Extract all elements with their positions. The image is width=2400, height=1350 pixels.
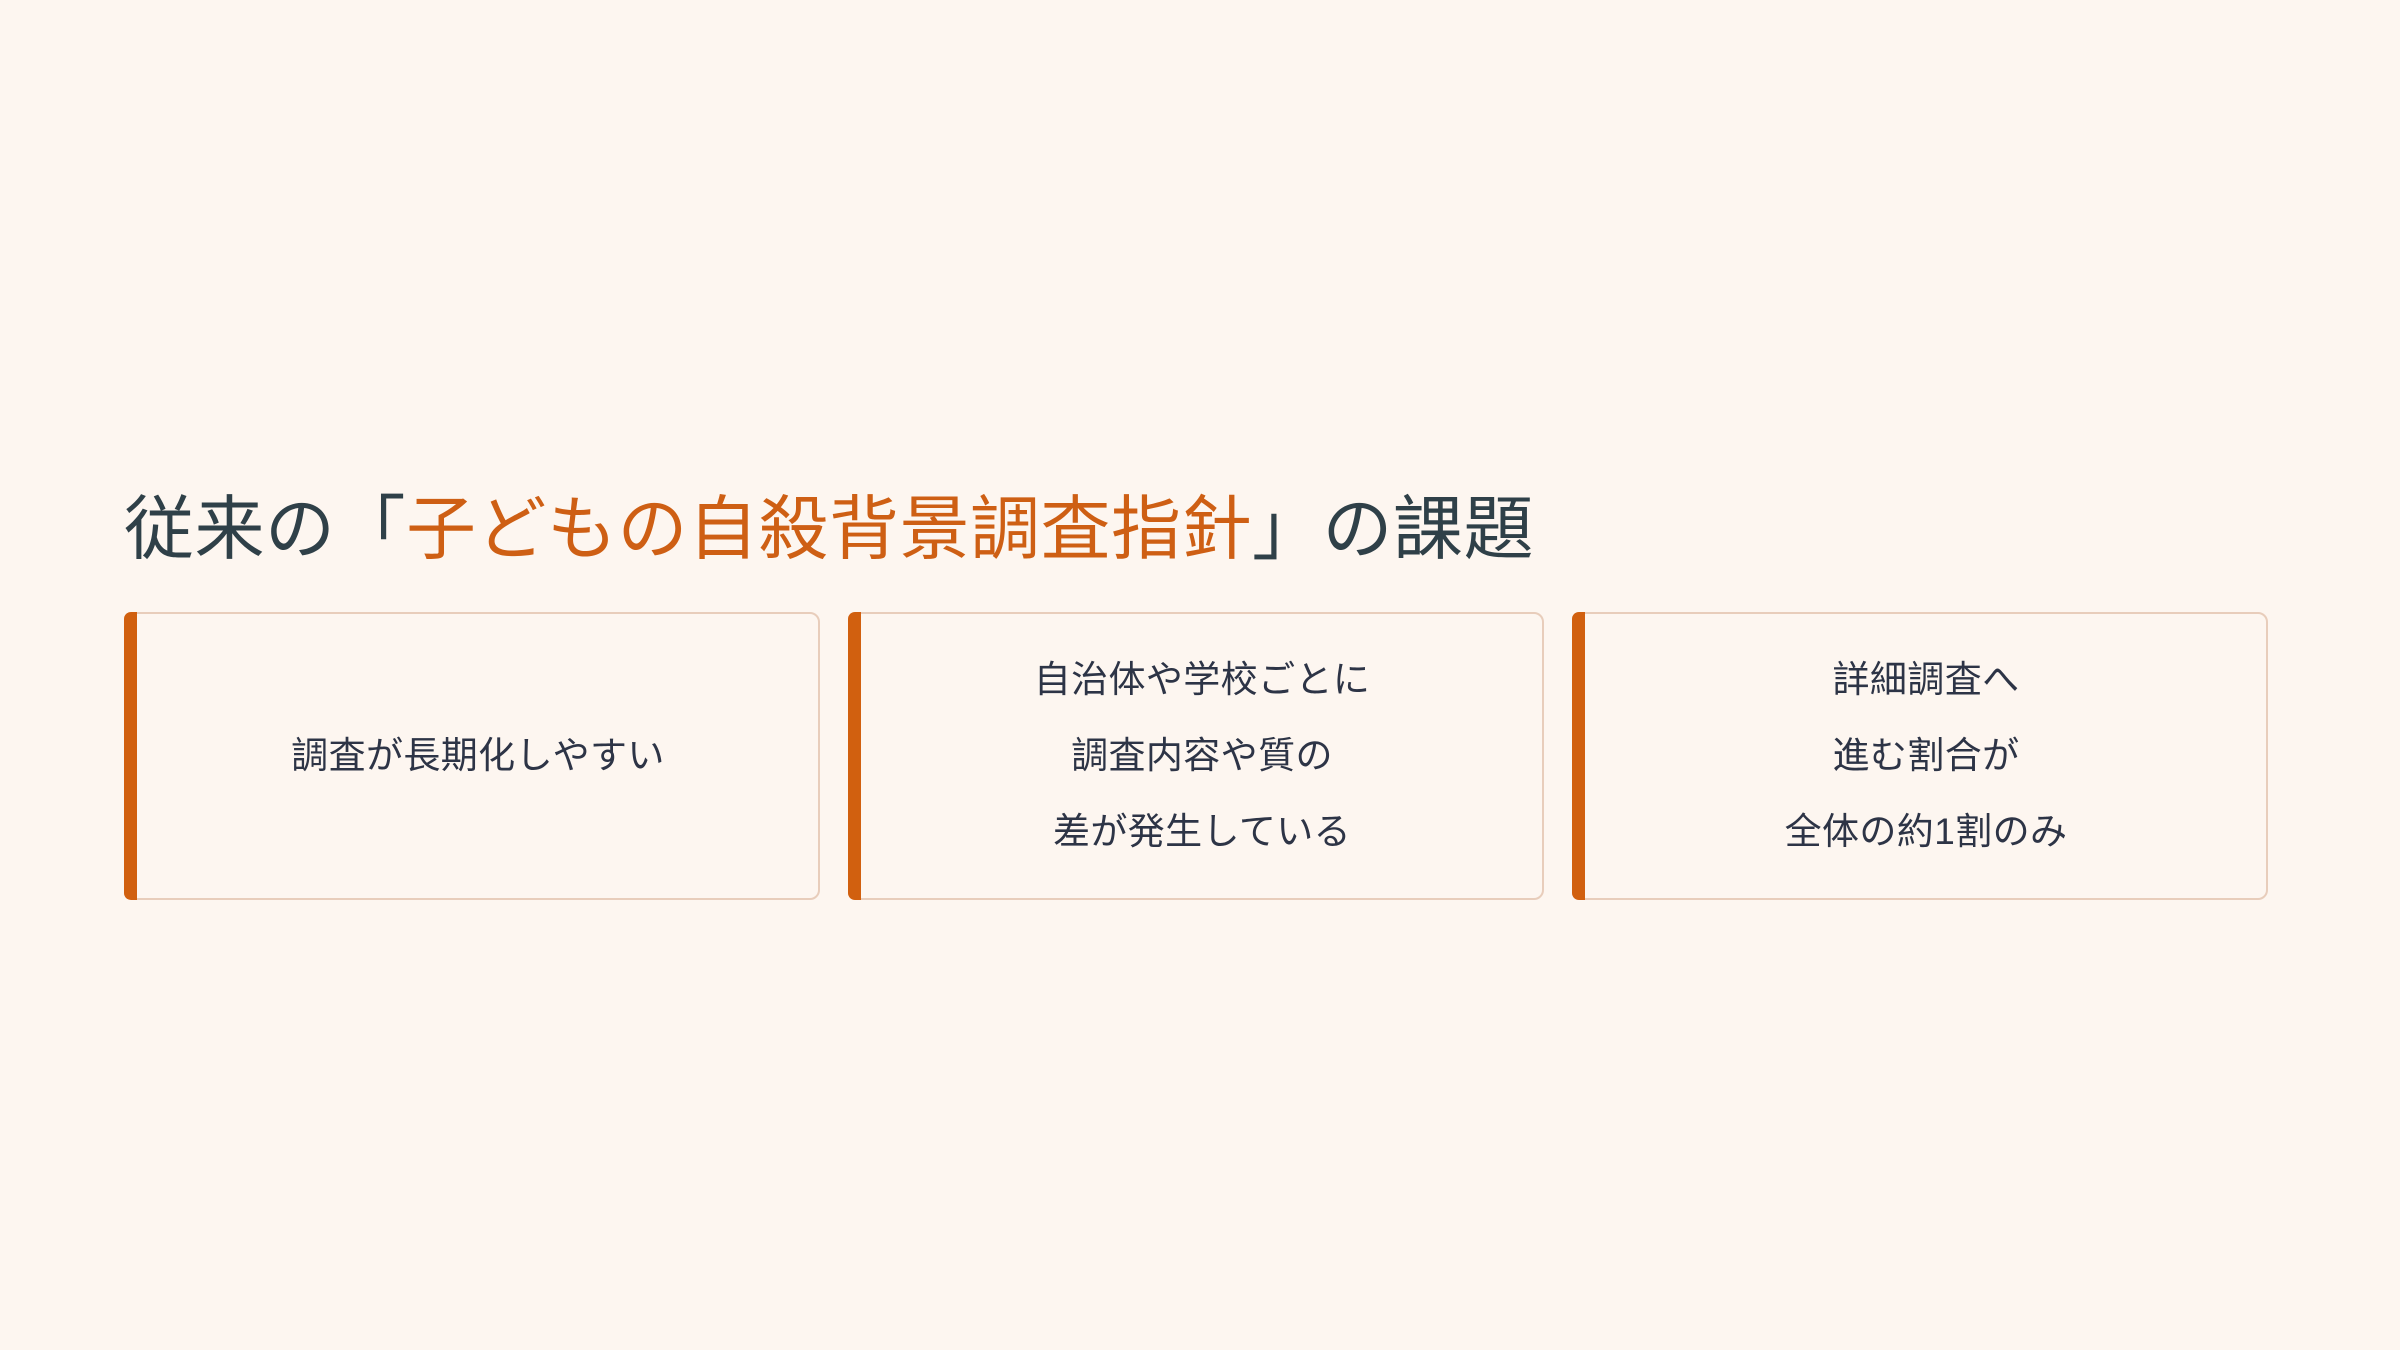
page-title: 従来の「子どもの自殺背景調査指針」の課題 (124, 488, 1534, 571)
issue-card-3-text: 詳細調査へ 進む割合が 全体の約1割のみ (1745, 642, 2096, 870)
issue-card-3: 詳細調査へ 進む割合が 全体の約1割のみ (1572, 612, 2268, 900)
issue-card-2-line-1: 自治体や学校ごとに (1034, 642, 1371, 718)
issue-card-2-line-3: 差が発生している (1034, 794, 1371, 870)
issue-card-3-line-2: 進む割合が (1785, 718, 2068, 794)
issue-card-3-line-1: 詳細調査へ (1785, 642, 2068, 718)
card-accent-bar-icon (1572, 612, 1585, 900)
page-title-lead: 従来の「 (124, 490, 406, 568)
issue-card-2-line-2: 調査内容や質の (1034, 718, 1371, 794)
issue-card-list: 調査が長期化しやすい 自治体や学校ごとに 調査内容や質の 差が発生している 詳細… (124, 612, 2268, 900)
page-title-trail: 」の課題 (1252, 490, 1534, 568)
issue-card-3-line-3: 全体の約1割のみ (1785, 794, 2068, 870)
issue-card-1-line-1: 調査が長期化しやすい (291, 718, 665, 794)
issue-card-2: 自治体や学校ごとに 調査内容や質の 差が発生している (848, 612, 1544, 900)
issue-card-1: 調査が長期化しやすい (124, 612, 820, 900)
slide-root: 従来の「子どもの自殺背景調査指針」の課題 調査が長期化しやすい 自治体や学校ごと… (0, 0, 2400, 1350)
card-accent-bar-icon (848, 612, 861, 900)
card-accent-bar-icon (124, 612, 137, 900)
issue-card-1-text: 調査が長期化しやすい (251, 718, 693, 794)
issue-card-2-text: 自治体や学校ごとに 調査内容や質の 差が発生している (994, 642, 1399, 870)
page-title-accent: 子どもの自殺背景調査指針 (406, 490, 1252, 568)
